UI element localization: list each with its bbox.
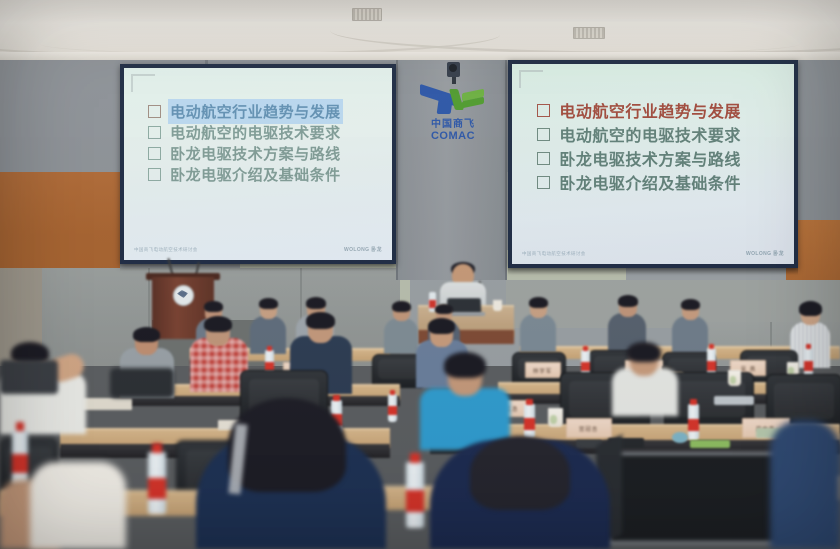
name-card: 宫冠吉: [566, 418, 612, 438]
checkbox-icon: [537, 104, 550, 117]
camera-lens-icon: [449, 64, 457, 72]
person-hair: [681, 299, 700, 310]
desk-paper: [82, 398, 132, 410]
conference-room-photo: 中国商飞 COMAC 电动航空行业趋势与发展 电动航空的电驱技术要求 卧龙电驱技…: [0, 0, 840, 549]
person-hair: [435, 304, 453, 314]
checkbox-icon: [537, 128, 550, 141]
person-hair: [618, 295, 638, 307]
list-item: 电动航空的电驱技术要求: [148, 122, 376, 143]
slide-corner-bracket: [131, 74, 155, 92]
desk-item: [672, 432, 688, 443]
person-hair: [306, 312, 335, 329]
ceiling-vent: [573, 27, 605, 39]
comac-logo-mark: [418, 88, 488, 114]
foreground-person: [770, 420, 840, 549]
water-bottle: [524, 404, 535, 438]
person-hair: [799, 301, 822, 316]
list-item: 电动航空行业趋势与发展: [537, 98, 777, 122]
right-slide: 电动航空行业趋势与发展 电动航空的电驱技术要求 卧龙电驱技术方案与路线 卧龙电驱…: [512, 64, 794, 264]
slide-corner-bracket: [519, 70, 543, 88]
left-slide-bullet-list: 电动航空行业趋势与发展 电动航空的电驱技术要求 卧龙电驱技术方案与路线 卧龙电驱…: [124, 101, 392, 185]
foreground-person-head: [228, 398, 346, 492]
slide-footer: 中国商飞电动航空技术研讨会 WOLONG 卧龙: [124, 244, 392, 255]
green-folder: [690, 440, 730, 448]
water-bottle: [688, 404, 699, 440]
desk-paper: [714, 396, 754, 405]
person-hair: [306, 297, 326, 309]
person-hair: [204, 316, 232, 332]
slide-footer-left: 中国商飞电动航空技术研讨会: [522, 251, 586, 257]
comac-logo: 中国商飞 COMAC: [414, 88, 492, 150]
slide-footer-left: 中国商飞电动航空技术研讨会: [134, 247, 198, 253]
comac-logo-english: COMAC: [414, 130, 492, 142]
water-bottle: [12, 430, 28, 486]
paper-cup: [728, 370, 741, 386]
audience-person: [520, 314, 556, 352]
monitor-back: [0, 360, 58, 394]
screen-shadow: [508, 268, 798, 275]
column-edge: [505, 60, 507, 280]
water-bottle: [406, 462, 424, 528]
slide-footer-right: WOLONG 卧龙: [746, 250, 784, 257]
list-item: 卧龙电驱介绍及基础条件: [537, 170, 777, 194]
wall-orange-band-lower: [0, 234, 120, 268]
left-slide: 电动航空行业趋势与发展 电动航空的电驱技术要求 卧龙电驱技术方案与路线 卧龙电驱…: [124, 68, 392, 260]
checkbox-icon: [148, 126, 161, 139]
person-hair: [204, 301, 223, 312]
foreground-person-head: [470, 436, 570, 510]
checkbox-icon: [148, 147, 161, 160]
screen-shadow: [120, 264, 396, 271]
ceiling-vent: [352, 8, 382, 21]
water-bottle: [388, 394, 397, 422]
checkbox-icon: [148, 105, 161, 118]
camera-mount: [452, 77, 456, 84]
foreground-person: [30, 462, 126, 549]
checkbox-icon: [537, 152, 550, 165]
slide-footer: 中国商飞电动航空技术研讨会 WOLONG 卧龙: [512, 248, 794, 259]
name-card: 林学军: [525, 362, 561, 378]
left-projection-screen: 电动航空行业趋势与发展 电动航空的电驱技术要求 卧龙电驱技术方案与路线 卧龙电驱…: [120, 64, 396, 264]
person-hair: [529, 297, 548, 308]
list-item: 电动航空的电驱技术要求: [537, 122, 777, 146]
paper-cup: [493, 300, 502, 311]
person-hair: [428, 318, 455, 334]
person-hair: [392, 301, 411, 312]
person-hair: [627, 342, 661, 362]
list-item: 卧龙电驱技术方案与路线: [537, 146, 777, 170]
checkbox-icon: [537, 176, 550, 189]
right-projection-screen: 电动航空行业趋势与发展 电动航空的电驱技术要求 卧龙电驱技术方案与路线 卧龙电驱…: [508, 60, 798, 268]
person-hair: [133, 327, 160, 342]
person-hair: [259, 298, 278, 309]
list-item: 卧龙电驱介绍及基础条件: [148, 164, 376, 185]
comac-logo-chinese: 中国商飞: [414, 115, 492, 130]
audience-person: [384, 318, 418, 354]
water-bottle: [148, 452, 166, 514]
person-hair: [444, 352, 486, 378]
list-item: 电动航空行业趋势与发展: [148, 101, 376, 122]
column-edge: [396, 60, 398, 280]
right-slide-bullet-list: 电动航空行业趋势与发展 电动航空的电驱技术要求 卧龙电驱技术方案与路线 卧龙电驱…: [512, 98, 794, 194]
paper-cup: [548, 408, 563, 427]
audience-person: [672, 316, 708, 354]
checkbox-icon: [148, 168, 161, 181]
list-item: 卧龙电驱技术方案与路线: [148, 143, 376, 164]
wall-mid-right: [506, 280, 840, 328]
monitor-back: [110, 368, 174, 398]
slide-footer-right: WOLONG 卧龙: [344, 246, 382, 253]
